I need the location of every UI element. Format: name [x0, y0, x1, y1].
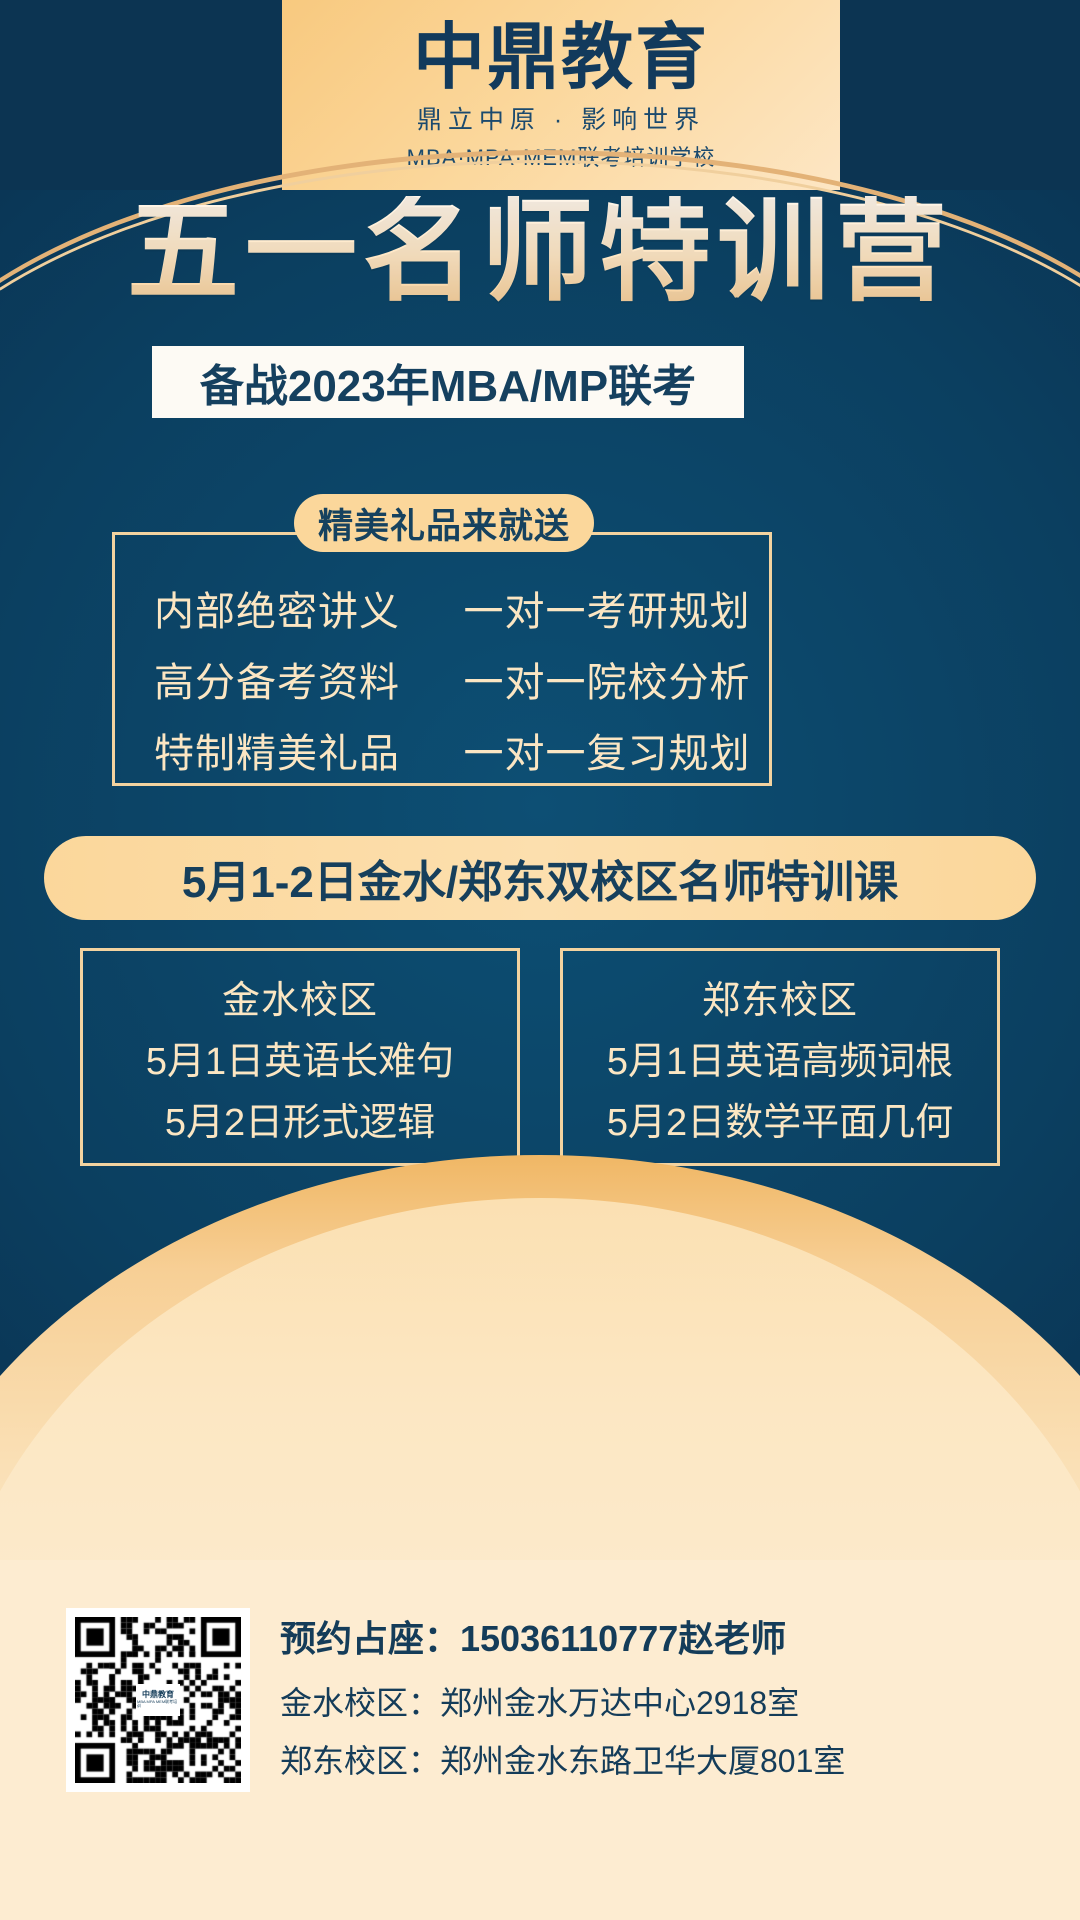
qr-logo-sub: MBA MPA MEM联考培训	[137, 1700, 179, 1709]
gift-item: 一对一复习规划	[442, 721, 772, 779]
page-title: 五一名师特训营	[0, 196, 1080, 308]
schedule-pill: 5月1-2日金水/郑东双校区名师特训课	[44, 836, 1036, 920]
campus-boxes: 金水校区 5月1日英语长难句 5月2日形式逻辑 郑东校区 5月1日英语高频词根 …	[80, 948, 1000, 1166]
gift-item: 内部绝密讲义	[112, 579, 442, 637]
footer: 中鼎教育 MBA MPA MEM联考培训 预约占座：15036110777赵老师…	[0, 1600, 1080, 1880]
campus-name: 郑东校区	[702, 969, 858, 1024]
brand-descriptor: MBA·MPA·MEM联考培训学校	[407, 140, 716, 172]
hero-subtitle: 备战2023年MBA/MP联考	[200, 350, 696, 414]
qr-code-icon[interactable]: 中鼎教育 MBA MPA MEM联考培训	[66, 1608, 250, 1792]
address-jinshui: 金水校区：郑州金水万达中心2918室	[280, 1678, 845, 1724]
address-zhengdong: 郑东校区：郑州金水东路卫华大厦801室	[280, 1736, 845, 1782]
gifts-badge: 精美礼品来就送	[294, 494, 594, 552]
campus-card-zhengdong: 郑东校区 5月1日英语高频词根 5月2日数学平面几何	[560, 948, 1000, 1166]
poster-root: 中鼎教育 鼎立中原 · 影响世界 MBA·MPA·MEM联考培训学校 五一名师特…	[0, 0, 1080, 1920]
gifts-grid: 内部绝密讲义 一对一考研规划 高分备考资料 一对一院校分析 特制精美礼品 一对一…	[112, 572, 772, 786]
campus-card-jinshui: 金水校区 5月1日英语长难句 5月2日形式逻辑	[80, 948, 520, 1166]
campus-name: 金水校区	[222, 969, 378, 1024]
campus-session: 5月1日英语高频词根	[607, 1030, 953, 1085]
header-right-strip	[840, 0, 1080, 190]
contact-block: 预约占座：15036110777赵老师 金水校区：郑州金水万达中心2918室 郑…	[280, 1610, 845, 1794]
brand-name: 中鼎教育	[413, 22, 709, 94]
gift-item: 特制精美礼品	[112, 721, 442, 779]
campus-session: 5月1日英语长难句	[146, 1030, 454, 1085]
gift-item: 高分备考资料	[112, 650, 442, 708]
brand-slogan: 鼎立中原 · 影响世界	[417, 100, 705, 136]
booking-phone: 预约占座：15036110777赵老师	[280, 1610, 845, 1662]
hero-subtitle-box: 备战2023年MBA/MP联考	[152, 346, 744, 418]
gift-item: 一对一考研规划	[442, 579, 772, 637]
brand-logo-panel: 中鼎教育 鼎立中原 · 影响世界 MBA·MPA·MEM联考培训学校	[282, 0, 840, 190]
header-left-strip	[0, 0, 282, 190]
campus-session: 5月2日形式逻辑	[165, 1091, 435, 1146]
gift-item: 一对一院校分析	[442, 650, 772, 708]
qr-center-logo: 中鼎教育 MBA MPA MEM联考培训	[136, 1684, 180, 1716]
campus-session: 5月2日数学平面几何	[607, 1091, 953, 1146]
